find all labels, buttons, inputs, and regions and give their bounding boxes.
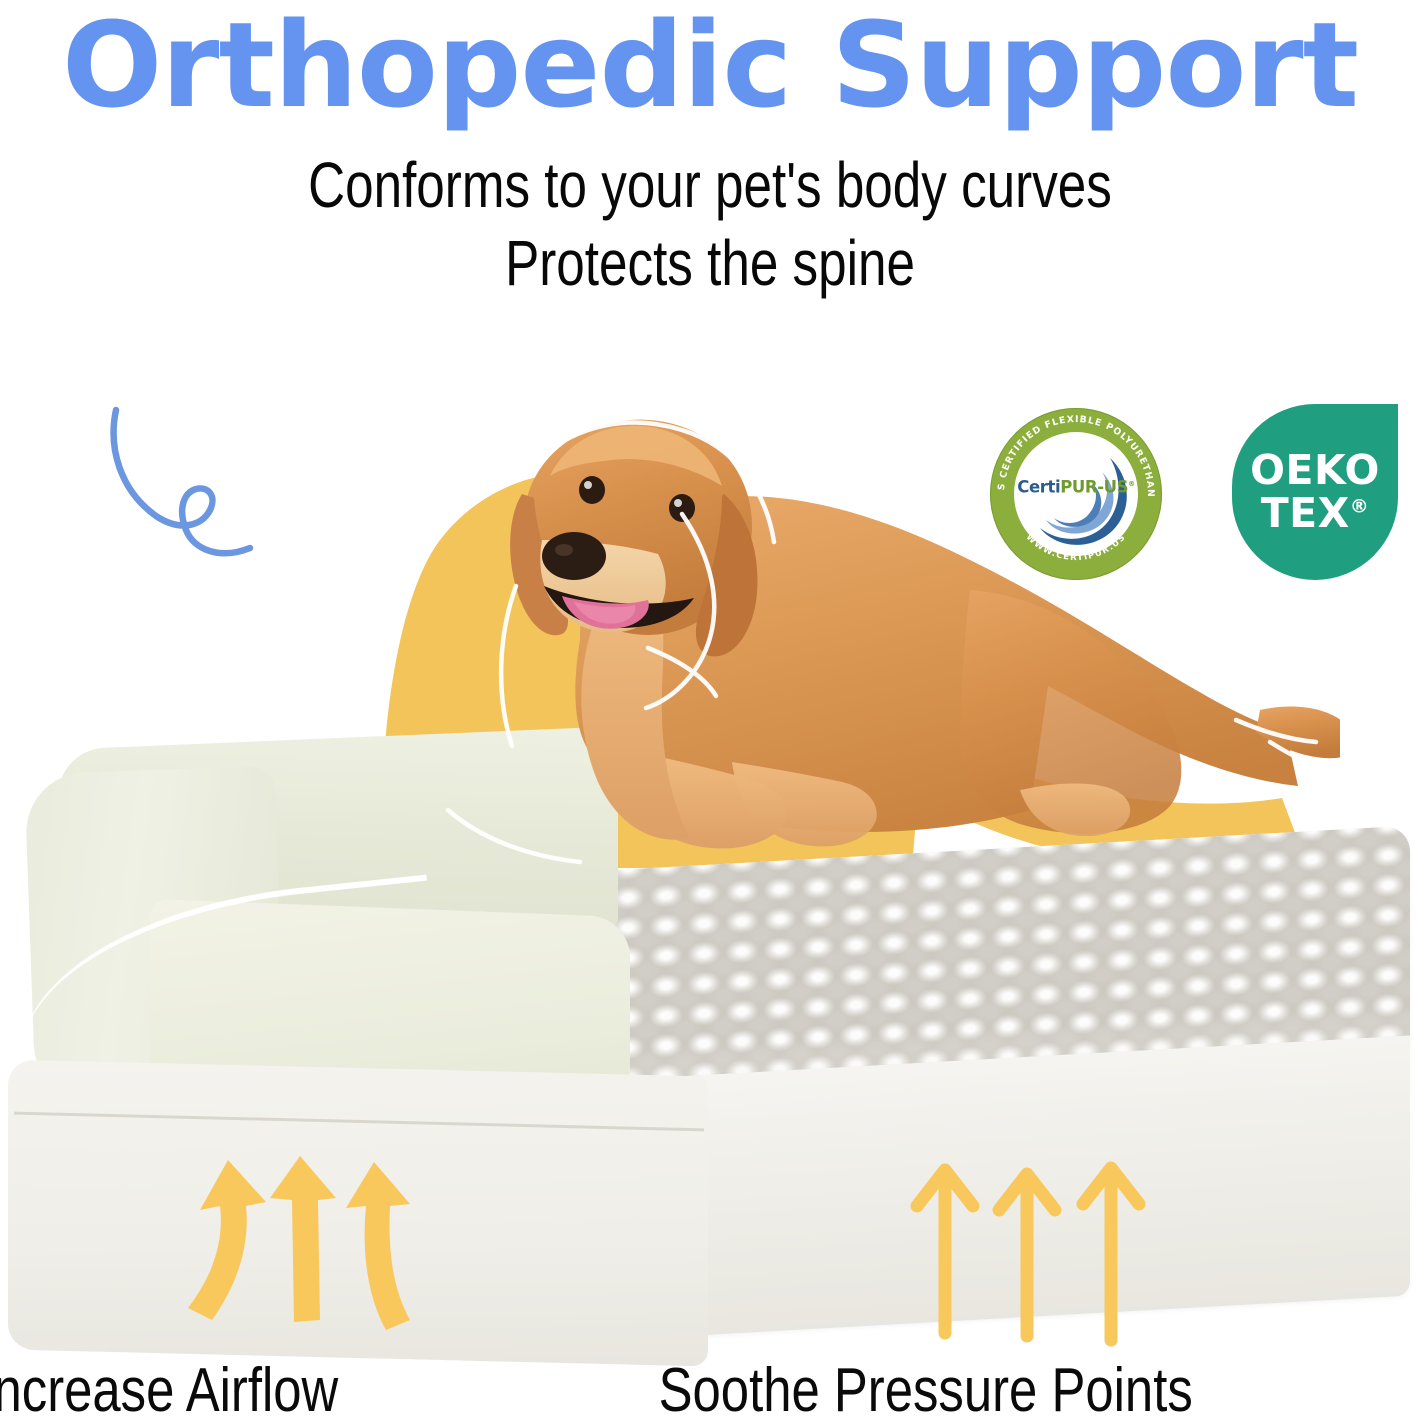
dog-eye-left-glint	[584, 481, 592, 489]
dog-nose	[542, 532, 606, 580]
airflow-arrow-3	[346, 1162, 410, 1330]
airflow-arrow-2	[270, 1156, 336, 1322]
page-title: Orthopedic Support	[0, 0, 1420, 124]
label-increase-airflow: Increase Airflow	[0, 1360, 338, 1422]
dog-eye-left	[579, 476, 605, 504]
label-soothe-pressure-points: Soothe Pressure Points	[659, 1360, 1193, 1422]
bottom-labels: Increase Airflow Soothe Pressure Points	[0, 1356, 1420, 1426]
airflow-arrows-left	[160, 1148, 450, 1348]
airflow-arrow-1	[188, 1160, 266, 1320]
subheading-line-1: Conforms to your pet's body curves	[142, 148, 1278, 224]
subheading-line-2: Protects the spine	[142, 226, 1278, 302]
headline-block: Orthopedic Support Conforms to your pet'…	[0, 0, 1420, 301]
pressure-arrows-right	[905, 1148, 1155, 1348]
golden-retriever-dog	[330, 390, 1340, 1030]
dog-eye-right-glint	[674, 499, 682, 507]
dog-nose-highlight	[555, 544, 573, 556]
